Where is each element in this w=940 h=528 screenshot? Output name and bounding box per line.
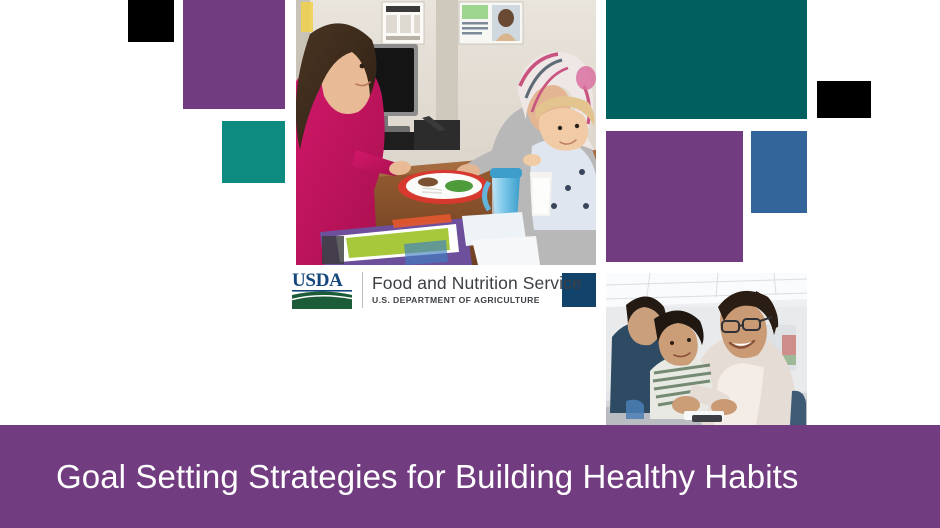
purple-block-right [606,131,743,262]
family-clinic-photo [606,273,807,425]
teal-block-top-right [606,0,807,119]
department-name: U.S. DEPARTMENT OF AGRICULTURE [372,296,582,305]
black-square-right [817,81,871,118]
nutrition-counseling-photo [296,0,596,265]
agency-name: Food and Nutrition Service [372,275,582,293]
usda-logo-mark: USDA [292,269,354,311]
black-square-top-left [128,0,174,42]
presentation-slide: USDA Food and Nutrition Service U.S. DEP… [0,0,940,528]
teal-square-left [222,121,285,183]
page-title: Goal Setting Strategies for Building Hea… [56,425,799,528]
title-band: Goal Setting Strategies for Building Hea… [0,425,940,528]
svg-text:USDA: USDA [292,270,343,291]
purple-block-top-left [183,0,285,109]
usda-fns-logo: USDA Food and Nutrition Service U.S. DEP… [292,268,582,312]
logo-wordmark: Food and Nutrition Service U.S. DEPARTME… [372,275,582,305]
logo-divider [362,272,363,308]
blue-block-right [751,131,807,213]
